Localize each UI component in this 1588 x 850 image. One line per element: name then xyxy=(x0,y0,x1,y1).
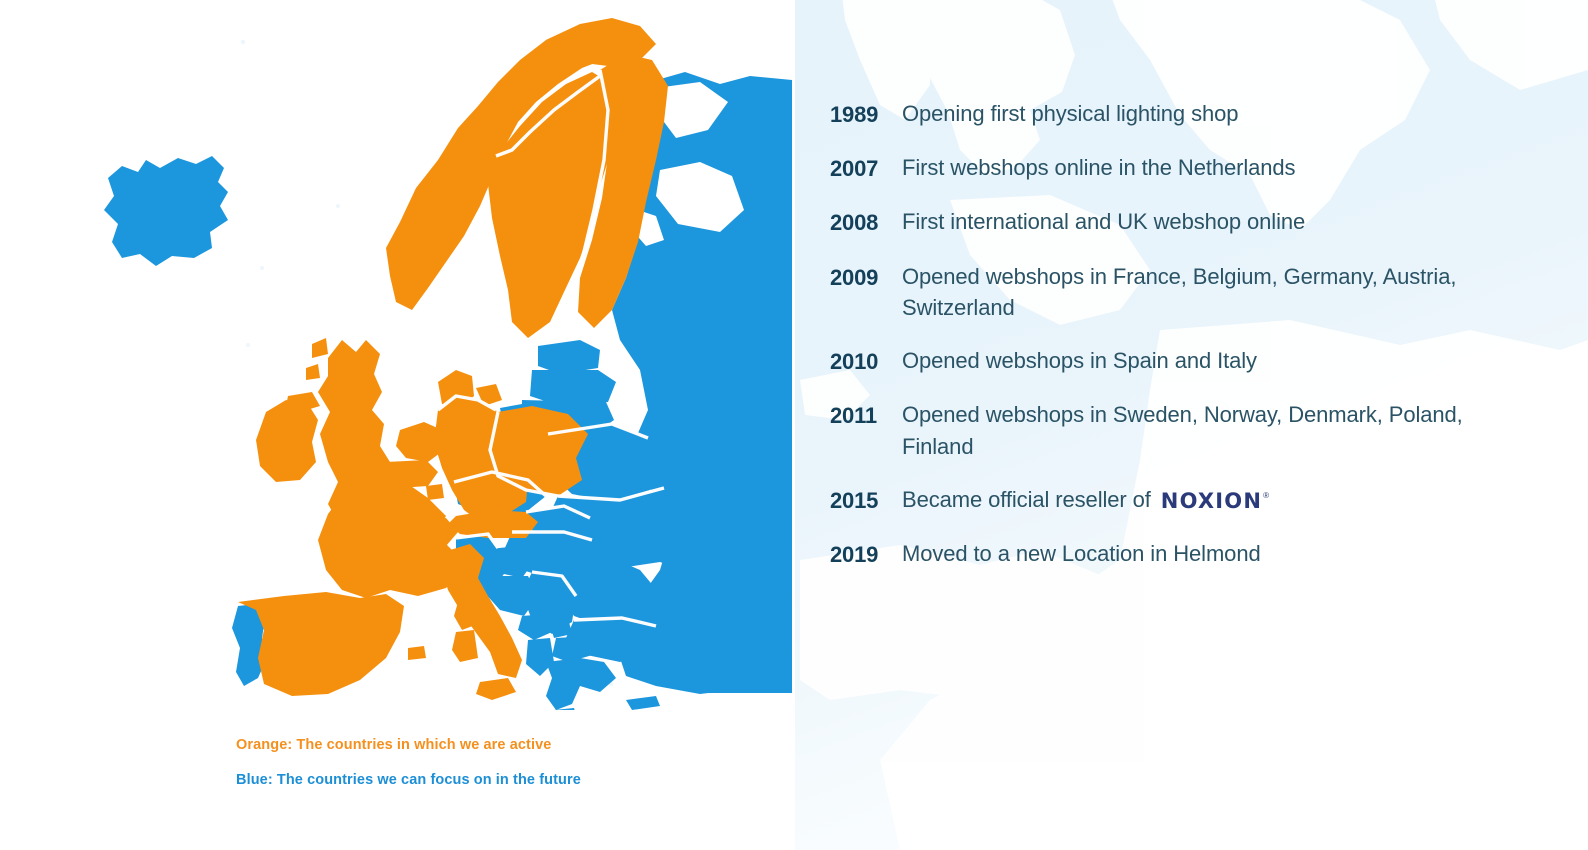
country-estonia xyxy=(538,340,600,374)
timeline-year: 2007 xyxy=(830,152,902,184)
europe-map-svg xyxy=(60,10,820,710)
country-montenegro xyxy=(518,614,552,640)
timeline-description: Opening first physical lighting shop xyxy=(902,98,1530,129)
map-legend: Orange: The countries in which we are ac… xyxy=(236,738,581,789)
company-timeline: 1989 Opening first physical lighting sho… xyxy=(830,98,1530,592)
timeline-year: 2015 xyxy=(830,484,902,516)
country-sicily xyxy=(476,678,516,700)
country-spain xyxy=(238,592,404,696)
country-sardinia xyxy=(452,630,478,662)
legend-orange-label: Orange: The countries in which we are ac… xyxy=(236,738,581,754)
uk-scotland-isles xyxy=(312,338,328,358)
legend-blue-label: Blue: The countries we can focus on in t… xyxy=(236,773,581,789)
country-cyprus xyxy=(626,696,660,710)
timeline-row-noxion: 2015 Became official reseller ofNOXION® xyxy=(830,484,1530,516)
timeline-row: 2009 Opened webshops in France, Belgium,… xyxy=(830,261,1530,323)
timeline-description: Opened webshops in France, Belgium, Germ… xyxy=(902,261,1502,323)
timeline-description: Moved to a new Location in Helmond xyxy=(902,538,1530,569)
timeline-year: 2011 xyxy=(830,399,902,431)
timeline-description: Opened webshops in Spain and Italy xyxy=(902,345,1530,376)
timeline-year: 2009 xyxy=(830,261,902,293)
timeline-year: 1989 xyxy=(830,98,902,130)
timeline-row: 2007 First webshops online in the Nether… xyxy=(830,152,1530,184)
country-iceland xyxy=(104,156,228,266)
timeline-row: 2011 Opened webshops in Sweden, Norway, … xyxy=(830,399,1530,461)
timeline-description-text: Became official reseller of xyxy=(902,487,1151,512)
country-north-macedonia xyxy=(552,636,596,662)
uk-hebrides xyxy=(306,364,320,380)
timeline-year: 2008 xyxy=(830,206,902,238)
europe-map xyxy=(60,10,820,710)
timeline-row: 2010 Opened webshops in Spain and Italy xyxy=(830,345,1530,377)
noxion-registered-mark: ® xyxy=(1263,490,1269,501)
timeline-description: First international and UK webshop onlin… xyxy=(902,206,1530,237)
timeline-year: 2010 xyxy=(830,345,902,377)
timeline-year: 2019 xyxy=(830,538,902,570)
infographic-root: Orange: The countries in which we are ac… xyxy=(0,0,1588,850)
timeline-row: 1989 Opening first physical lighting sho… xyxy=(830,98,1530,130)
timeline-row: 2019 Moved to a new Location in Helmond xyxy=(830,538,1530,570)
country-austria xyxy=(448,510,538,538)
balearic-islands xyxy=(408,646,426,660)
noxion-wordmark: NOXION xyxy=(1161,491,1262,512)
timeline-description: Became official reseller ofNOXION® xyxy=(902,484,1530,515)
country-luxembourg xyxy=(426,484,444,500)
noxion-logo: NOXION® xyxy=(1161,490,1268,511)
timeline-description: First webshops online in the Netherlands xyxy=(902,152,1530,183)
country-ireland xyxy=(256,400,318,482)
timeline-row: 2008 First international and UK webshop … xyxy=(830,206,1530,238)
timeline-description: Opened webshops in Sweden, Norway, Denma… xyxy=(902,399,1502,461)
country-greece xyxy=(546,658,616,710)
